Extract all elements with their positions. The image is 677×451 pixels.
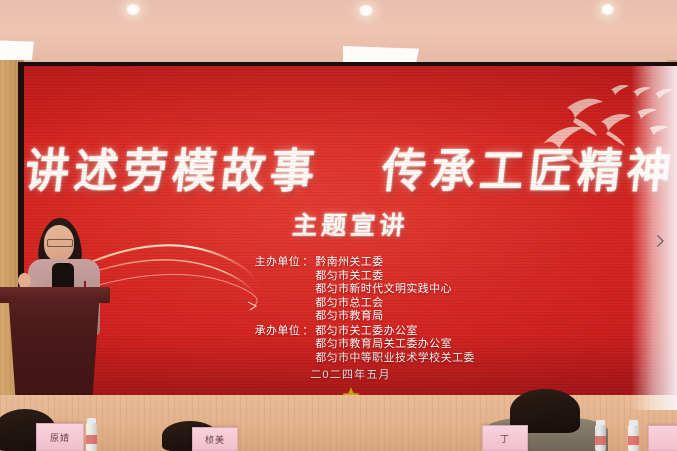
poster-title-part1: 讲述劳模故事 [24,144,322,198]
credit-group-coorganizer: 承办单位 ： 都匀市关工委办公室 都匀市教育局关工委办公室 都匀市中等职业技术学… [226,325,475,366]
ceiling [0,0,677,66]
bottle-cap [87,418,96,423]
bottle-cap [596,420,605,425]
credit-line: 都匀市关工委 [315,270,452,284]
name-card: 桢美 [192,427,238,451]
credit-line: 都匀市新时代文明实践中心 [315,283,452,297]
name-card: 丁 [482,425,528,451]
credit-label-organizer: 主办单位 [226,256,300,270]
name-card-text: 桢美 [205,433,225,446]
bottle-label [595,436,606,445]
name-card-text: 原婧 [50,431,70,444]
credit-colon-organizer: ： [300,256,315,270]
bottle-label [628,436,639,445]
ceiling-panel-light-1 [0,40,34,60]
poster-title-main: 讲述劳模故事 传承工匠精神 [24,149,677,196]
credit-line: 黔南州关工委 [315,256,452,270]
screenshot-root: 讲述劳模故事 传承工匠精神 主题宣讲 主办单位 ： 黔南州关工委 都匀市关工委 … [0,0,677,451]
bottle-label [86,435,97,444]
ceiling-spot-light-3 [601,4,614,15]
credit-line: 都匀市中等职业技术学校关工委 [315,352,475,366]
credit-line: 都匀市教育局 [315,310,452,324]
ceiling-spot-light-1 [126,4,140,15]
speaker-glasses [47,239,73,247]
name-card: 原婧 [36,423,84,451]
bottle-cap [629,420,638,425]
name-card [648,425,677,451]
speaker-hand [18,273,31,288]
credit-line: 都匀市总工会 [315,297,452,311]
poster-title-part2: 传承工匠精神 [379,144,677,198]
credit-line: 都匀市教育局关工委办公室 [315,338,475,352]
credit-colon-coorganizer: ： [300,325,315,339]
credit-group-organizer: 主办单位 ： 黔南州关工委 都匀市关工委 都匀市新时代文明实践中心 都匀市总工会… [226,256,475,324]
chevron-right-icon[interactable] [651,232,669,250]
credit-line: 都匀市关工委办公室 [315,325,475,339]
credit-label-coorganizer: 承办单位 [226,325,300,339]
name-card-text: 丁 [500,432,510,445]
ceiling-spot-light-2 [359,5,373,16]
